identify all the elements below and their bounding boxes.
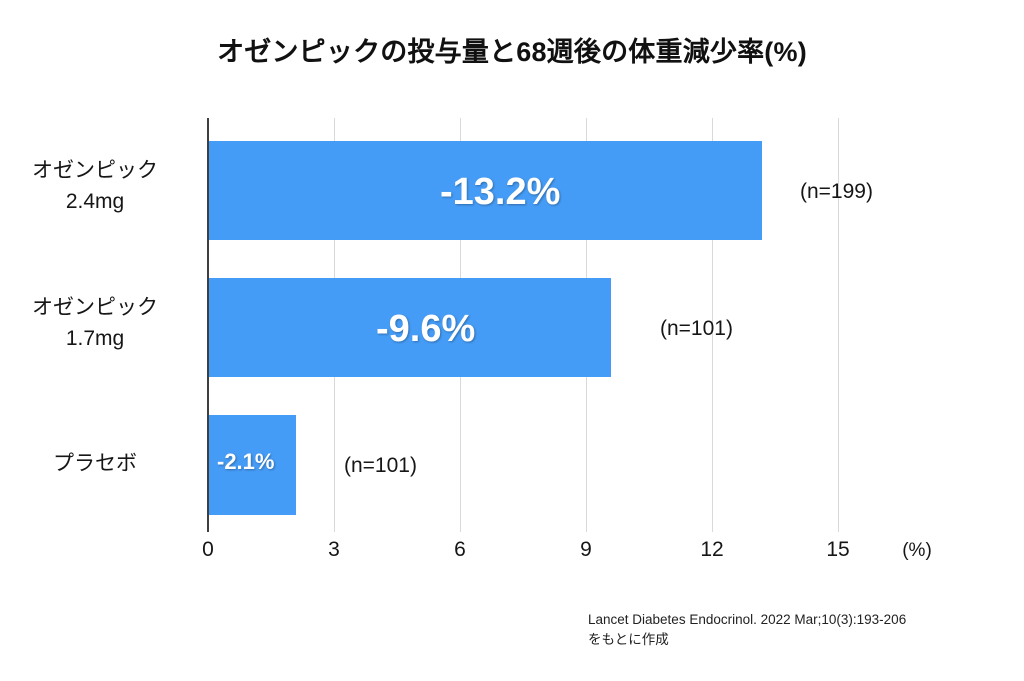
category-label-line1: オゼンピック — [0, 155, 190, 186]
category-label-ozempic-1-7mg: オゼンピック 1.7mg — [0, 292, 190, 354]
category-label-ozempic-2-4mg: オゼンピック 2.4mg — [0, 155, 190, 217]
bar-n-placebo: (n=101) — [344, 454, 417, 478]
y-axis-line — [207, 118, 209, 532]
xtick-15: 15 — [803, 538, 873, 562]
x-axis-unit-label: (%) — [882, 540, 952, 562]
xtick-9: 9 — [551, 538, 621, 562]
xtick-12: 12 — [677, 538, 747, 562]
bar-value-ozempic-1-7mg: -9.6% — [376, 308, 475, 351]
category-label-line1: オゼンピック — [0, 292, 190, 323]
source-line2: をもとに作成 — [588, 630, 988, 650]
bar-value-placebo: -2.1% — [217, 449, 274, 475]
xtick-6: 6 — [425, 538, 495, 562]
chart-title: オゼンピックの投与量と68週後の体重減少率(%) — [0, 30, 1024, 69]
xtick-3: 3 — [299, 538, 369, 562]
source-line1: Lancet Diabetes Endocrinol. 2022 Mar;10(… — [588, 610, 988, 630]
bar-value-ozempic-2-4mg: -13.2% — [440, 171, 560, 214]
plot-area: -13.2% -9.6% -2.1% (n=199) (n=101) (n=10… — [208, 118, 900, 532]
category-label-line2: 2.4mg — [0, 186, 190, 217]
category-label-line1: プラセボ — [0, 448, 190, 479]
chart-canvas: オゼンピックの投与量と68週後の体重減少率(%) -13.2% -9.6% -2… — [0, 0, 1024, 681]
xtick-0: 0 — [173, 538, 243, 562]
category-label-placebo: プラセボ — [0, 448, 190, 479]
source-note: Lancet Diabetes Endocrinol. 2022 Mar;10(… — [588, 610, 988, 650]
bar-n-ozempic-2-4mg: (n=199) — [800, 180, 873, 204]
bar-n-ozempic-1-7mg: (n=101) — [660, 317, 733, 341]
category-label-line2: 1.7mg — [0, 323, 190, 354]
